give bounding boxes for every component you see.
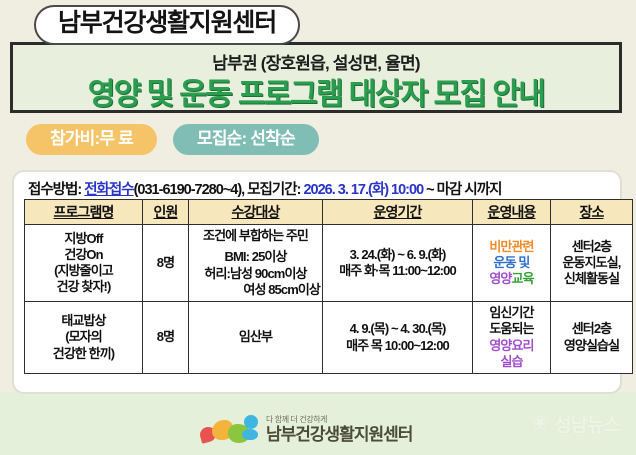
cell-target: 조건에 부합하는 주민 BMI: 25이상 허리:남성 90cm이상 여성 85…: [189, 225, 323, 302]
content-line-2: 도움되는: [475, 321, 548, 337]
period-line-2: 매주 목 10:00~12:00: [325, 338, 470, 354]
badge-group: 참가비:무 료 모집순: 선착순: [26, 124, 319, 155]
place-line-1: 센터2층: [553, 239, 630, 255]
cell-capacity: 8명: [143, 225, 189, 302]
content-line-3a: 영양: [489, 271, 511, 286]
cell-target: 임산부: [189, 302, 323, 374]
content-line-3a: 영양요리: [475, 338, 548, 354]
period-line-1: 4. 9.(목) ~ 4. 30.(목): [325, 321, 470, 337]
cell-period: 4. 9.(목) ~ 4. 30.(목) 매주 목 10:00~12:00: [323, 302, 473, 374]
center-logo: 다 함께 더 건강하게 남부건강생활지원센터: [200, 413, 412, 443]
poster-root: 남부건강생활지원센터 남부권 (장호원읍, 설성면, 율면) 영양 및 운동 프…: [0, 0, 636, 455]
reception-period-tail: ~ 마감 시까지: [423, 182, 501, 198]
table-row: 지방Off 건강On (지방줄이고 건강 찾자!) 8명 조건에 부합하는 주민…: [25, 225, 633, 302]
cell-place: 센터2층 영양실습실: [551, 302, 633, 374]
cell-period: 3. 24.(화) ~ 6. 9.(화) 매주 화·목 11:00~12:00: [323, 225, 473, 302]
page-title: 영양 및 운동 프로그램 대상자 모집 안내: [13, 69, 619, 113]
watermark-text: 성남뉴스: [554, 410, 620, 437]
reception-period-value: 2026. 3. 17.(화) 10:00: [303, 182, 423, 198]
reception-info: 접수방법: 전화접수(031-6190-7280~4), 모집기간: 2026.…: [28, 178, 614, 199]
cell-content: 비만관련 운동 및 영양교육: [473, 225, 551, 302]
program-table: 프로그램명 인원 수강대상 운영기간 운영내용 장소 지방Off 건강On (지…: [24, 199, 633, 374]
table-row: 태교밥상 (모자의 건강한 한끼) 8명 임산부 4. 9.(목) ~ 4. 3…: [25, 302, 633, 374]
content-line-3b: 실습: [475, 354, 548, 370]
cell-capacity: 8명: [143, 302, 189, 374]
place-line-3: 신체활동실: [553, 271, 630, 287]
people-swoosh-icon: [200, 413, 260, 443]
period-line-2: 매주 화·목 11:00~12:00: [325, 263, 470, 279]
target-line-2: BMI: 25이상: [191, 249, 320, 265]
logo-tagline: 다 함께 더 건강하게: [266, 416, 412, 424]
program-line-1: 지방Off: [27, 231, 140, 247]
program-line-2: (모자의: [27, 329, 140, 345]
place-line-2: 운동지도실,: [553, 255, 630, 271]
table-header-row: 프로그램명 인원 수강대상 운영기간 운영내용 장소: [25, 200, 633, 225]
cell-content: 임신기간 도움되는 영양요리 실습: [473, 302, 551, 374]
cell-place: 센터2층 운동지도실, 신체활동실: [551, 225, 633, 302]
reception-period-label: 모집기간:: [247, 182, 303, 198]
col-header-place: 장소: [551, 200, 633, 225]
target-line-4: 여성 85cm이상: [191, 282, 320, 298]
center-name-pill: 남부건강생활지원센터: [34, 5, 300, 45]
target-line-3: 허리:남성 90cm이상: [191, 266, 320, 282]
title-box: 남부권 (장호원읍, 설성면, 율면) 영양 및 운동 프로그램 대상자 모집 …: [10, 42, 622, 113]
program-line-3: 건강한 한끼): [27, 346, 140, 362]
center-name-text: 남부건강생활지원센터: [58, 9, 276, 37]
logo-name: 남부건강생활지원센터: [266, 426, 412, 443]
reception-method-value: 전화접수: [84, 182, 133, 198]
order-badge: 모집순: 선착순: [173, 124, 319, 155]
program-line-1: 태교밥상: [27, 313, 140, 329]
logo-text-block: 다 함께 더 건강하게 남부건강생활지원센터: [266, 416, 412, 443]
cell-program: 태교밥상 (모자의 건강한 한끼): [25, 302, 143, 374]
place-line-2: 영양실습실: [553, 338, 630, 354]
col-header-content: 운영내용: [473, 200, 551, 225]
content-line-3: 영양교육: [475, 271, 548, 287]
reception-method-label: 접수방법:: [28, 182, 84, 198]
col-header-capacity: 인원: [143, 200, 189, 225]
period-line-1: 3. 24.(화) ~ 6. 9.(화): [325, 247, 470, 263]
content-line-1: 임신기간: [475, 305, 548, 321]
col-header-target: 수강대상: [189, 200, 323, 225]
reception-phone: (031-6190-7280~4),: [134, 182, 248, 198]
program-line-4: 건강 찾자!): [27, 279, 140, 295]
program-line-2: 건강On: [27, 247, 140, 263]
col-header-period: 운영기간: [323, 200, 473, 225]
program-line-3: (지방줄이고: [27, 263, 140, 279]
cell-program: 지방Off 건강On (지방줄이고 건강 찾자!): [25, 225, 143, 302]
col-header-program: 프로그램명: [25, 200, 143, 225]
pinwheel-icon: ❀: [532, 414, 548, 433]
target-line-1: 조건에 부합하는 주민: [191, 228, 320, 244]
content-card: 접수방법: 전화접수(031-6190-7280~4), 모집기간: 2026.…: [12, 170, 622, 394]
content-line-1: 비만관련: [475, 239, 548, 255]
news-watermark: ❀ 성남뉴스: [532, 410, 620, 437]
place-line-1: 센터2층: [553, 321, 630, 337]
content-line-3b: 교육: [512, 271, 534, 286]
fee-badge: 참가비:무 료: [26, 124, 157, 155]
content-line-2: 운동 및: [475, 255, 548, 271]
